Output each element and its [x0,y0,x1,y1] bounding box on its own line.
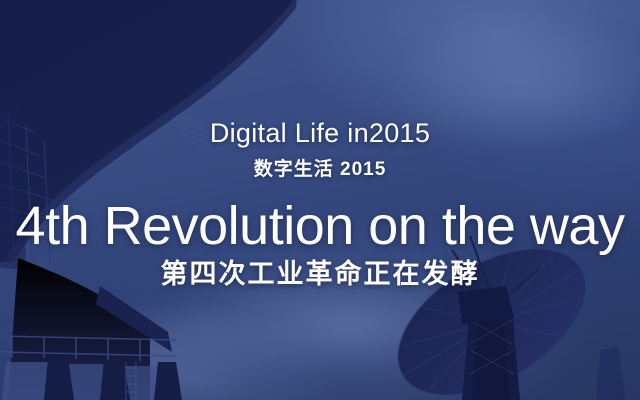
text-overlay: Digital Life in2015 数字生活 2015 4th Revolu… [0,0,640,400]
title-chinese: 数字生活 2015 [0,160,640,179]
headline-english: 4th Revolution on the way [0,199,640,253]
headline-chinese: 第四次工业革命正在发酵 [0,261,640,288]
poster-image: Digital Life in2015 数字生活 2015 4th Revolu… [0,0,640,400]
title-english: Digital Life in2015 [0,120,640,147]
